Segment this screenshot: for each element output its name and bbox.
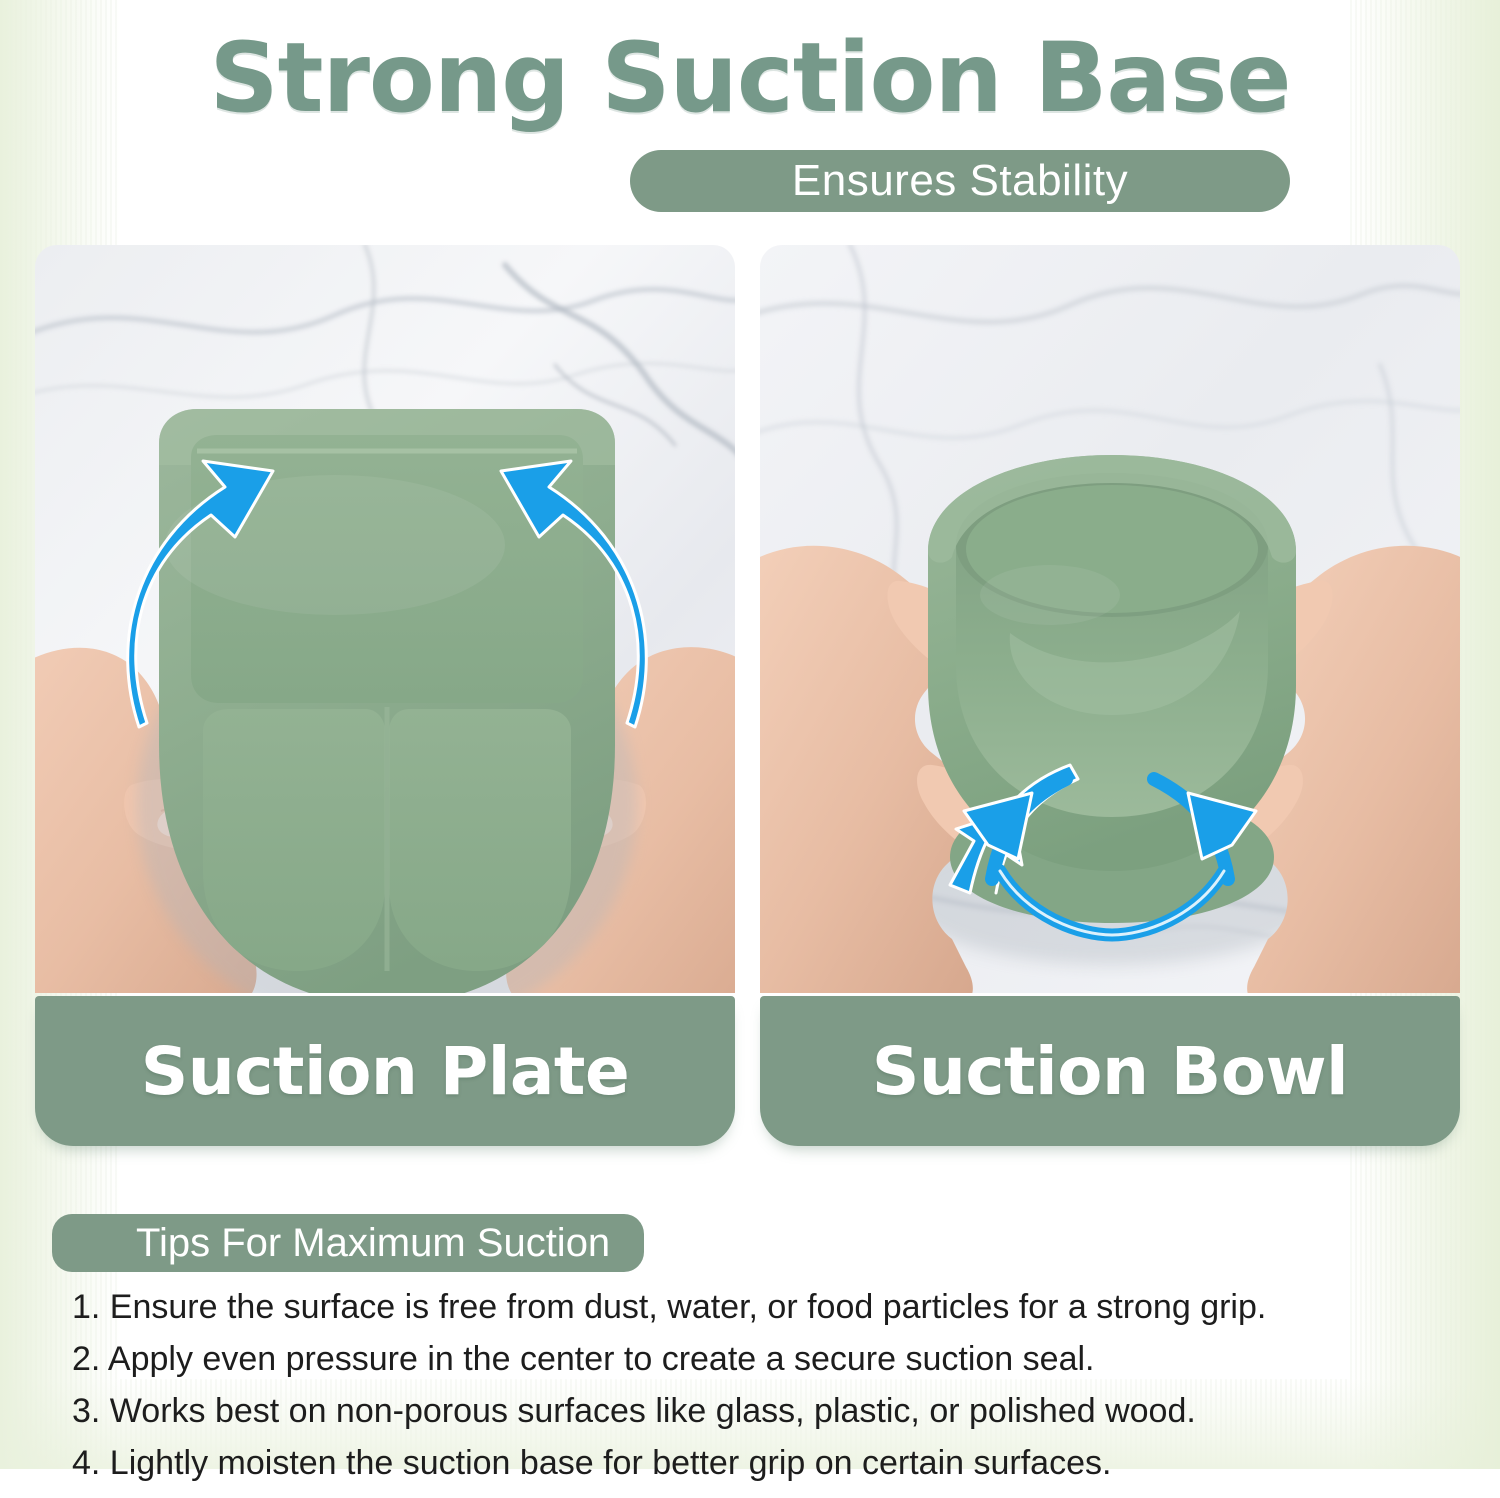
tip-item: 2. Apply even pressure in the center to … [72, 1342, 1452, 1376]
tips-heading-pill: Tips For Maximum Suction [52, 1214, 644, 1272]
tips-heading-text: Tips For Maximum Suction [136, 1221, 610, 1266]
tips-list: 1. Ensure the surface is free from dust,… [72, 1290, 1452, 1498]
page-title: Strong Suction Base [0, 28, 1500, 129]
subtitle-text: Ensures Stability [792, 156, 1128, 206]
photo-suction-bowl [760, 245, 1460, 993]
infographic-page: Strong Suction Base Ensures Stability [0, 0, 1500, 1469]
tip-item: 4. Lightly moisten the suction base for … [72, 1446, 1452, 1480]
label-suction-plate-text: Suction Plate [141, 1033, 629, 1110]
label-suction-bowl: Suction Bowl [760, 996, 1460, 1146]
photo-suction-plate [35, 245, 735, 993]
tip-item: 1. Ensure the surface is free from dust,… [72, 1290, 1452, 1324]
tip-item: 3. Works best on non-porous surfaces lik… [72, 1394, 1452, 1428]
subtitle-pill: Ensures Stability [630, 150, 1290, 212]
label-suction-plate: Suction Plate [35, 996, 735, 1146]
label-suction-bowl-text: Suction Bowl [872, 1033, 1348, 1110]
